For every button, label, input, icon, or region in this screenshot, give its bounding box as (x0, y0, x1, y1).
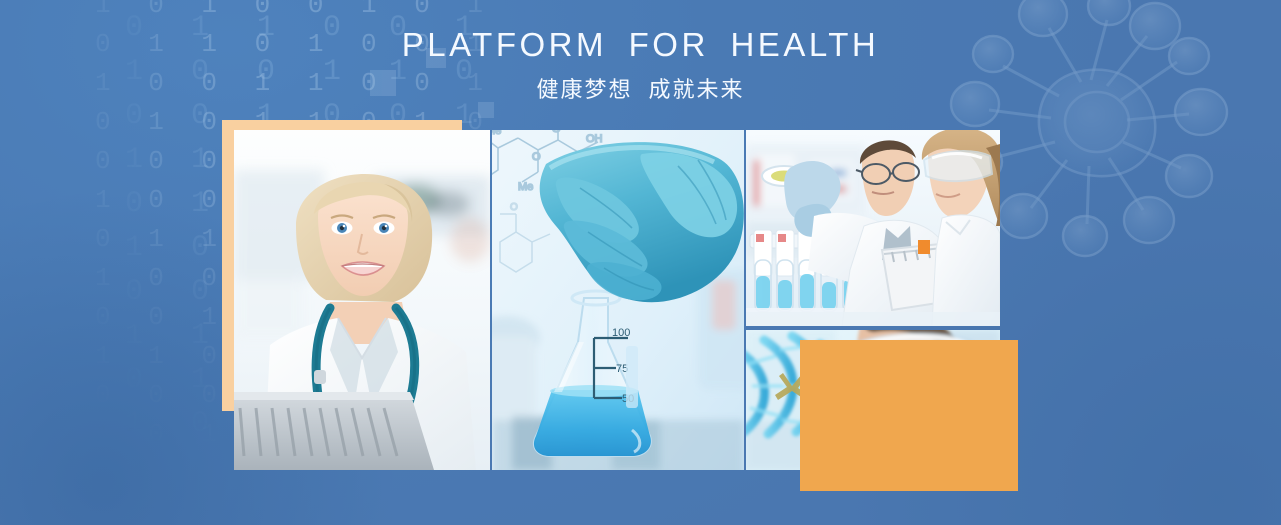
svg-text:Me: Me (492, 130, 501, 137)
svg-text:O: O (510, 202, 518, 213)
photo-frame-orange (800, 340, 1018, 491)
photo-doctor-at-computer (234, 130, 490, 470)
photo-flask-in-gloved-hand: Me Me O OH O O (492, 130, 744, 470)
flask-marking-100: 100 (612, 327, 630, 339)
photo-two-scientists-petri-dish (746, 130, 1000, 326)
health-platform-banner: 0 1 1 0 0 1 1 0 0 1 1 0 0 0 1 0 0 1 1 1 … (0, 0, 1281, 525)
svg-text:Me: Me (518, 181, 533, 193)
svg-text:OH: OH (586, 133, 603, 145)
page-title: PLATFORM FOR HEALTH (0, 26, 1281, 64)
page-subtitle: 健康梦想 成就未来 (0, 72, 1281, 104)
banner-heading-group: PLATFORM FOR HEALTH 健康梦想 成就未来 (0, 26, 1281, 104)
svg-text:O: O (532, 151, 541, 163)
svg-text:O: O (552, 130, 561, 135)
